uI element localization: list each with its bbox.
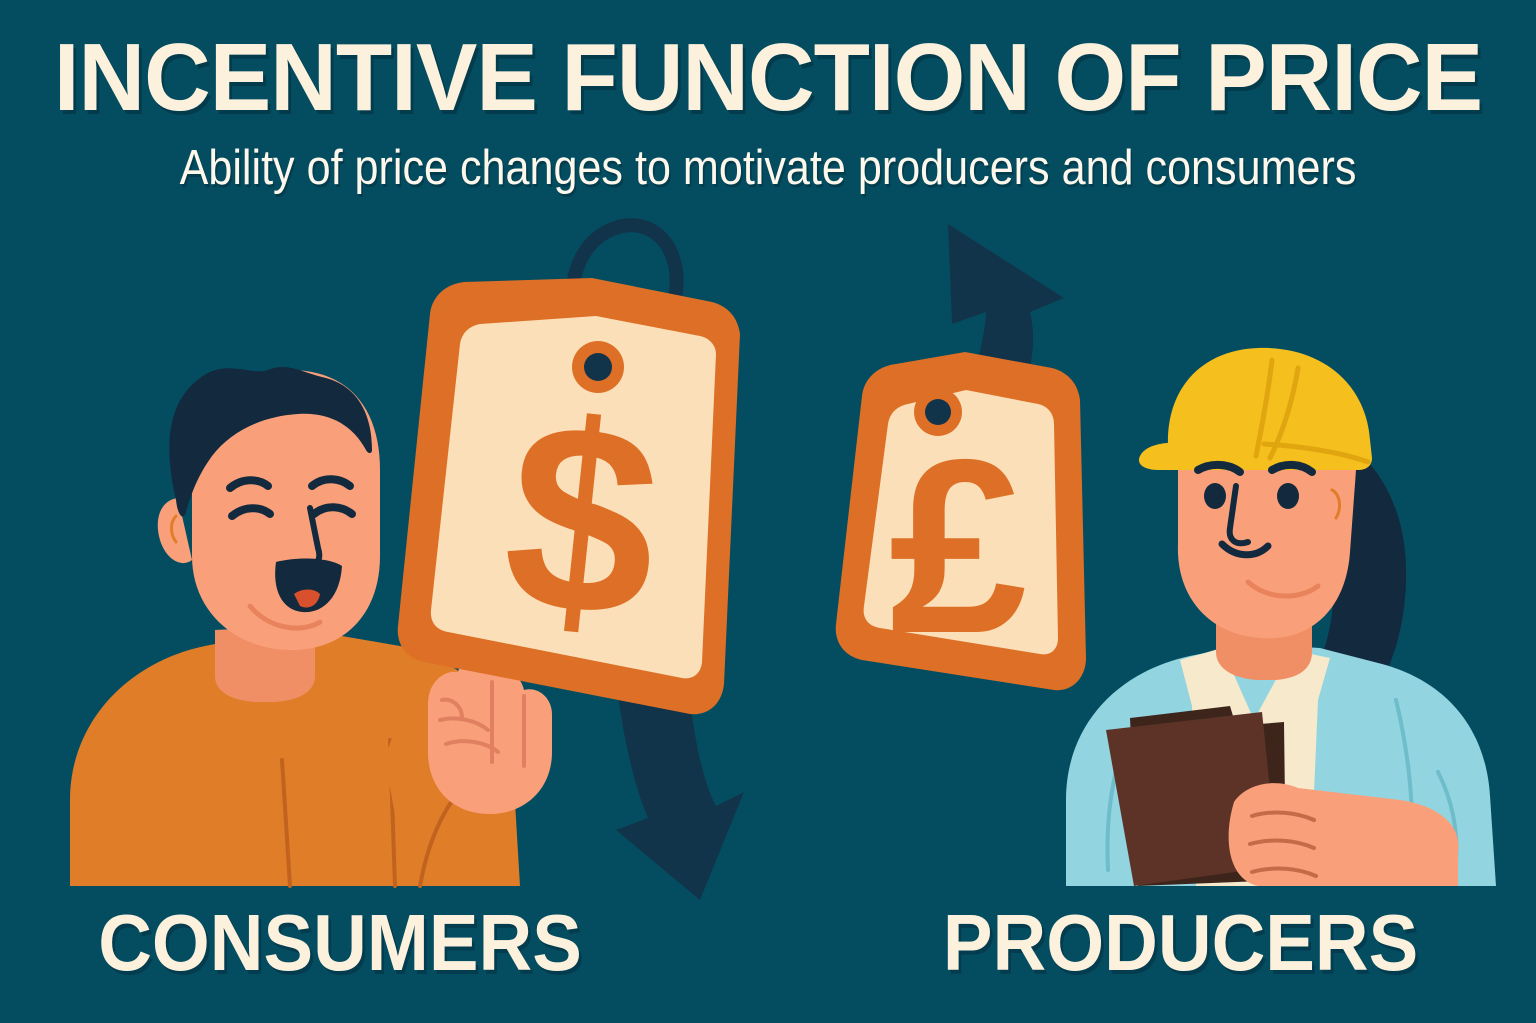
label-producers: PRODUCERS xyxy=(943,900,1418,986)
svg-text:$: $ xyxy=(492,362,672,676)
dollar-symbol: $ xyxy=(492,362,672,676)
label-consumers: CONSUMERS xyxy=(98,900,582,986)
infographic-canvas: $ £ xyxy=(0,0,1536,1023)
dollar-price-tag: $ xyxy=(398,225,740,714)
svg-text:£: £ xyxy=(889,407,1027,685)
producer-eye-left xyxy=(1204,483,1226,509)
producer-eye-right xyxy=(1277,483,1299,509)
pound-price-tag: £ xyxy=(836,352,1086,690)
page-title: INCENTIVE FUNCTION OF PRICE xyxy=(31,30,1506,126)
pound-symbol: £ xyxy=(889,407,1027,685)
page-subtitle: Ability of price changes to motivate pro… xyxy=(92,140,1444,196)
